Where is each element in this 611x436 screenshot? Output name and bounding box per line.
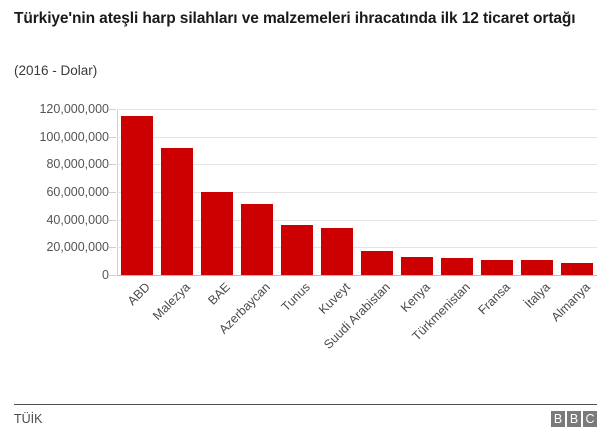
bar-slot (321, 109, 352, 275)
bar[interactable] (201, 192, 232, 275)
bar[interactable] (241, 204, 272, 275)
bar-slot (481, 109, 512, 275)
bar[interactable] (161, 148, 192, 275)
y-tick-label: 80,000,000 (5, 157, 109, 171)
y-tick-label: 20,000,000 (5, 240, 109, 254)
y-axis: 020,000,00040,000,00060,000,00080,000,00… (0, 0, 109, 436)
y-tick-label: 60,000,000 (5, 185, 109, 199)
bar[interactable] (321, 228, 352, 275)
bar[interactable] (361, 251, 392, 275)
bar[interactable] (481, 260, 512, 275)
bar-slot (561, 109, 592, 275)
y-tick-mark (109, 275, 116, 276)
y-tick-mark (109, 247, 116, 248)
x-tick-label: Kenya (398, 280, 433, 315)
bar[interactable] (401, 257, 432, 275)
bbc-logo-letter: B (551, 411, 565, 427)
y-tick-mark (109, 164, 116, 165)
y-tick-label: 0 (5, 268, 109, 282)
bar[interactable] (441, 258, 472, 275)
source-label: TÜİK (14, 412, 42, 426)
bar-slot (441, 109, 472, 275)
bbc-logo: BBC (551, 411, 597, 427)
bar[interactable] (281, 225, 312, 275)
x-tick-label: Malezya (150, 280, 193, 323)
plot-area (117, 109, 597, 275)
x-tick-label: Almanya (549, 280, 593, 324)
y-tick-label: 120,000,000 (5, 102, 109, 116)
y-tick-mark (109, 137, 116, 138)
x-tick-label: Tunus (279, 280, 313, 314)
x-tick-label: BAE (205, 280, 233, 308)
bar-slot (241, 109, 272, 275)
x-tick-label: Fransa (475, 280, 512, 317)
bar-slot (361, 109, 392, 275)
y-tick-mark (109, 192, 116, 193)
bbc-logo-letter: C (583, 411, 597, 427)
bar-slot (401, 109, 432, 275)
y-tick-label: 40,000,000 (5, 213, 109, 227)
footer-divider (14, 404, 597, 405)
chart-container: Türkiye'nin ateşli harp silahları ve mal… (0, 0, 611, 436)
y-tick-label: 100,000,000 (5, 130, 109, 144)
x-axis-labels: ABDMalezyaBAEAzerbaycanTunusKuveytSuudi … (117, 276, 597, 386)
bar-slot (281, 109, 312, 275)
y-tick-mark (109, 220, 116, 221)
x-tick-label: İtalya (522, 280, 553, 311)
x-tick-label: ABD (125, 280, 153, 308)
bar-slot (521, 109, 552, 275)
y-tick-mark (109, 109, 116, 110)
bar[interactable] (561, 263, 592, 275)
bar-slot (161, 109, 192, 275)
bar[interactable] (121, 116, 152, 275)
bar[interactable] (521, 260, 552, 275)
bar-slot (201, 109, 232, 275)
x-tick-label: Kuveyt (316, 280, 353, 317)
bbc-logo-letter: B (567, 411, 581, 427)
bar-slot (121, 109, 152, 275)
